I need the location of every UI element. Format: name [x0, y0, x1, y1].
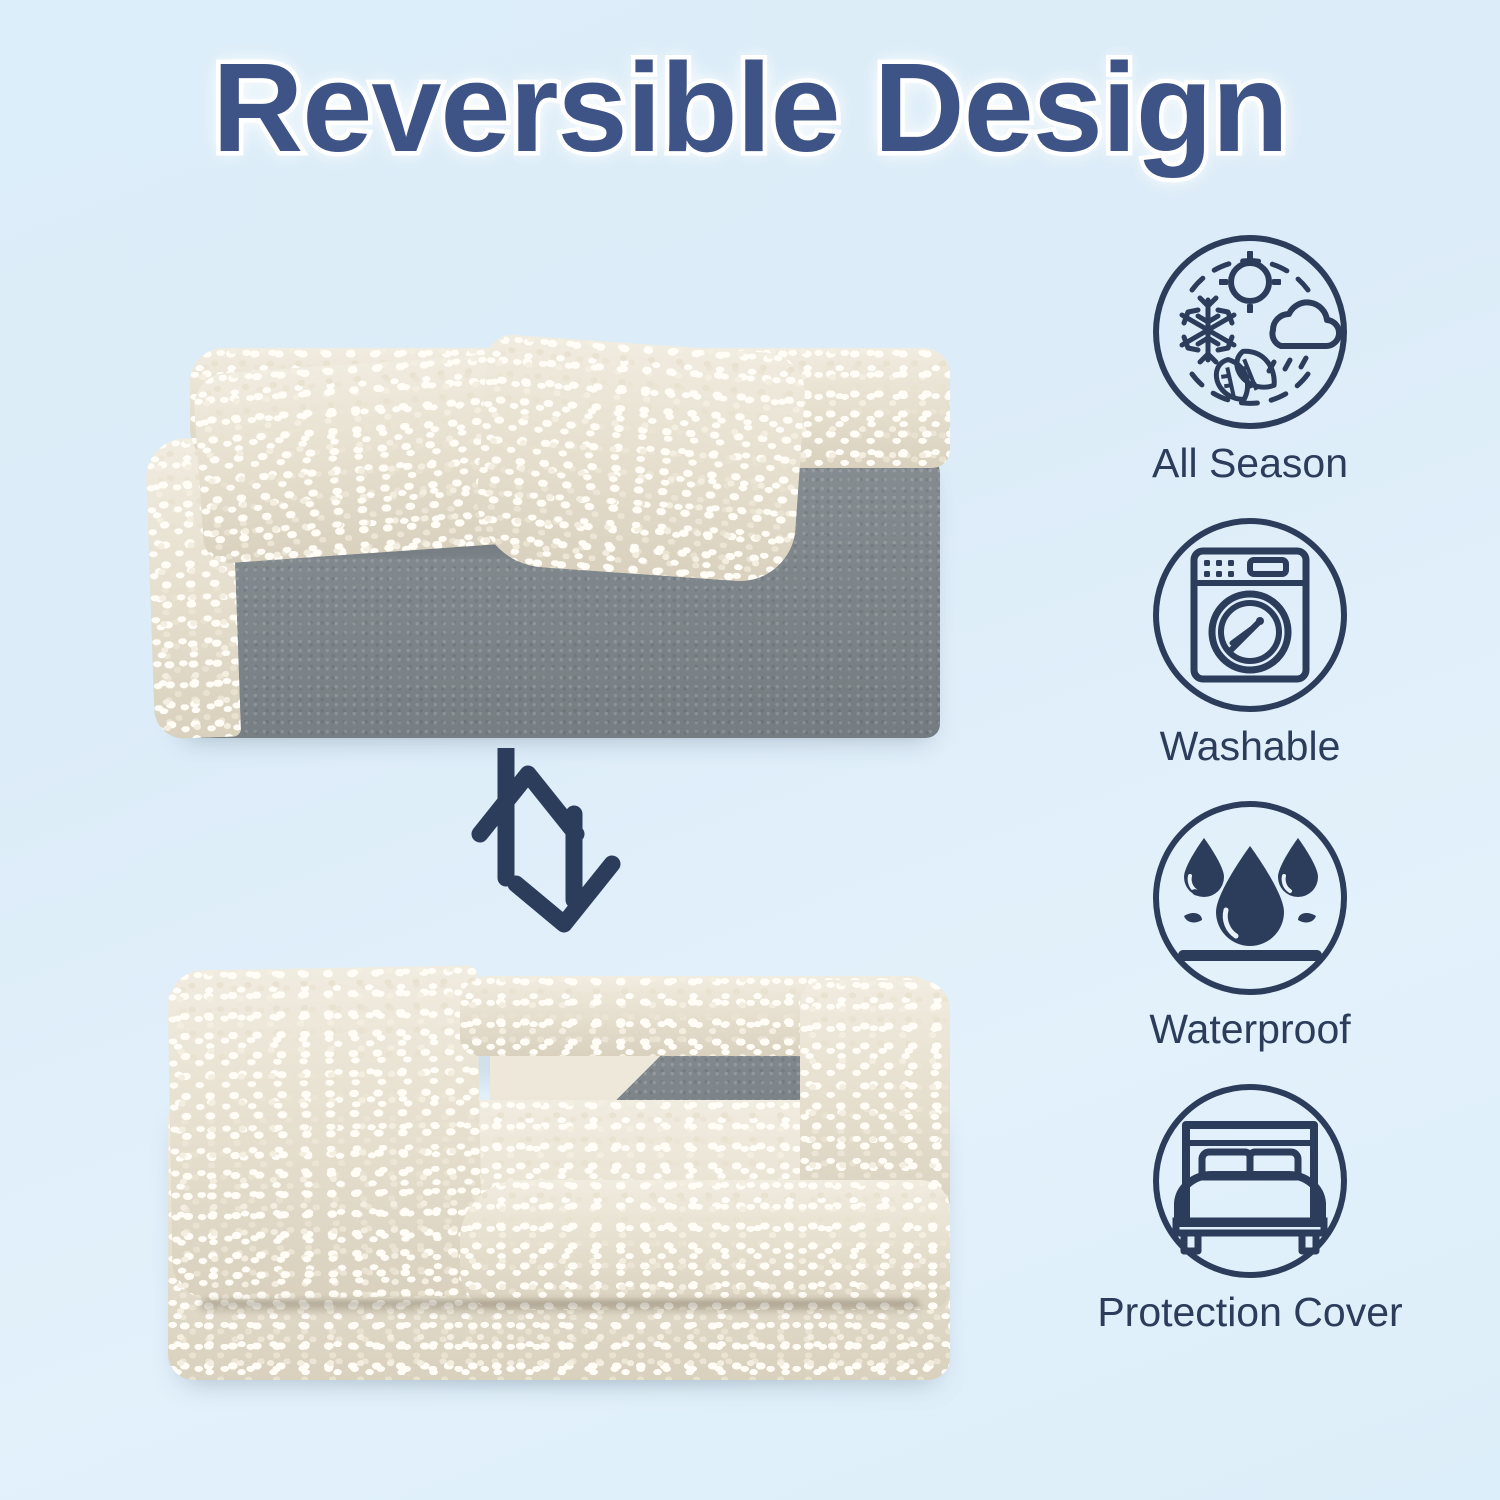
- feature-item-protection-cover: Protection Cover: [1060, 1081, 1440, 1336]
- blanket-image-fleece-side: [150, 338, 940, 738]
- reversible-arrows-icon: [468, 748, 648, 948]
- feature-label: All Season: [1060, 440, 1440, 487]
- feature-label: Protection Cover: [1060, 1289, 1440, 1336]
- feature-list: All Season: [1060, 232, 1440, 1360]
- blanket-sherpa-panel-left: [167, 965, 483, 1300]
- blanket-seam-line: [200, 1300, 920, 1314]
- washing-machine-icon: [1150, 515, 1350, 715]
- feature-label: Washable: [1060, 723, 1440, 770]
- water-drops-icon: [1150, 798, 1350, 998]
- product-infographic: Reversible Design: [0, 0, 1500, 1500]
- feature-item-washable: Washable: [1060, 515, 1440, 770]
- feature-item-waterproof: Waterproof: [1060, 798, 1440, 1053]
- blanket-sherpa-roll: [460, 1180, 950, 1310]
- feature-item-all-season: All Season: [1060, 232, 1440, 487]
- all-season-icon: [1150, 232, 1350, 432]
- blanket-image-sherpa-side: [160, 950, 950, 1380]
- feature-label: Waterproof: [1060, 1006, 1440, 1053]
- blanket-sherpa-fold-secondary: [472, 333, 807, 585]
- page-title: Reversible Design: [0, 42, 1500, 174]
- bed-icon: [1150, 1081, 1350, 1281]
